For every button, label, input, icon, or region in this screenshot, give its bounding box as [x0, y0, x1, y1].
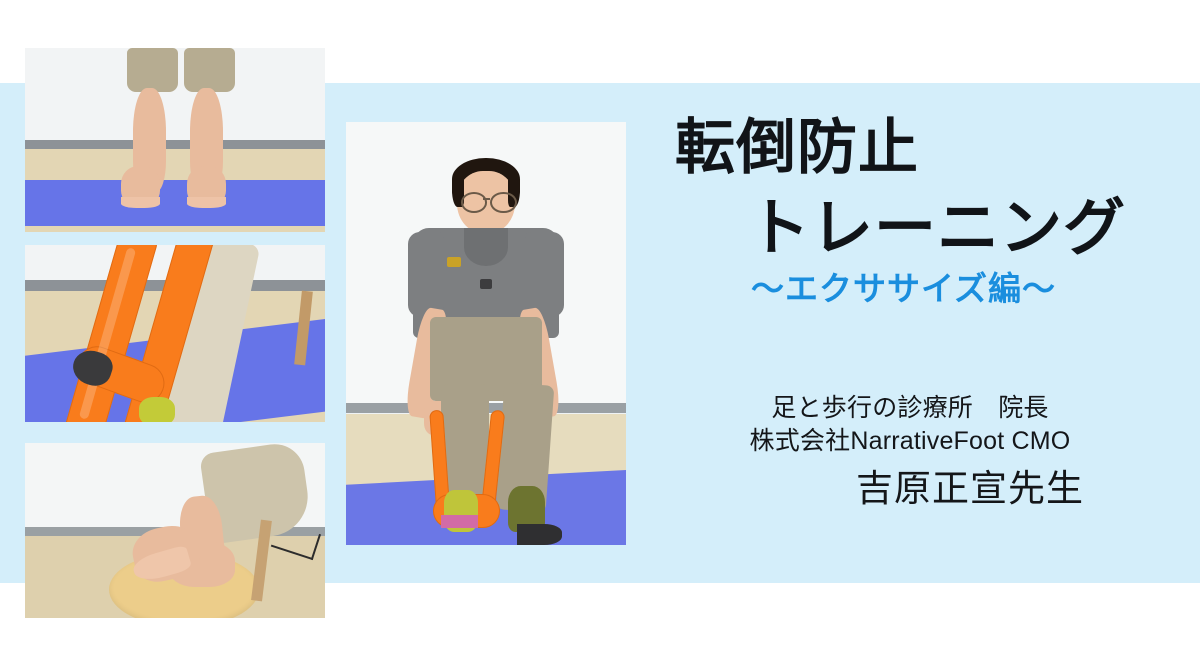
credits-block: 足と歩行の診療所 院長 株式会社NarrativeFoot CMO 吉原正宣先生 — [640, 392, 1180, 512]
glasses-left-lens — [461, 192, 487, 213]
thumbnail-photo-3 — [25, 443, 325, 618]
lapel-pin-gold — [447, 257, 461, 267]
toes-left — [121, 197, 160, 208]
microphone — [480, 279, 491, 289]
main-photo — [346, 122, 626, 545]
shorts-right — [184, 48, 235, 92]
sock-right-toe — [517, 524, 562, 545]
sock-left-stripe — [441, 515, 477, 528]
sleeve-left — [408, 232, 444, 317]
credit-person-name: 吉原正宣先生 — [640, 466, 1180, 512]
sock — [139, 397, 175, 422]
title-line-2: トレーニング — [640, 196, 1185, 261]
title-line-1: 転倒防止 — [640, 118, 1185, 178]
credit-clinic-title: 足と歩行の診療所 院長 — [640, 392, 1180, 425]
glasses-bridge — [483, 198, 490, 200]
title-subtitle: ～エクササイズ編～ — [640, 271, 1185, 307]
glasses-right-lens — [490, 192, 516, 213]
skirting-board — [25, 140, 325, 149]
title-block: 転倒防止 トレーニング ～エクササイズ編～ — [640, 118, 1185, 307]
scrub-v-neck — [464, 228, 509, 266]
credit-company-title: 株式会社NarrativeFoot CMO — [640, 425, 1180, 458]
slide-canvas: 転倒防止 トレーニング ～エクササイズ編～ 足と歩行の診療所 院長 株式会社Na… — [0, 0, 1200, 670]
thumbnail-photo-1 — [25, 48, 325, 232]
sleeve-right — [525, 232, 564, 317]
toes-right — [187, 197, 226, 208]
thumbnail-photo-2 — [25, 245, 325, 422]
shorts-left — [127, 48, 178, 92]
exercise-mat — [25, 180, 325, 226]
